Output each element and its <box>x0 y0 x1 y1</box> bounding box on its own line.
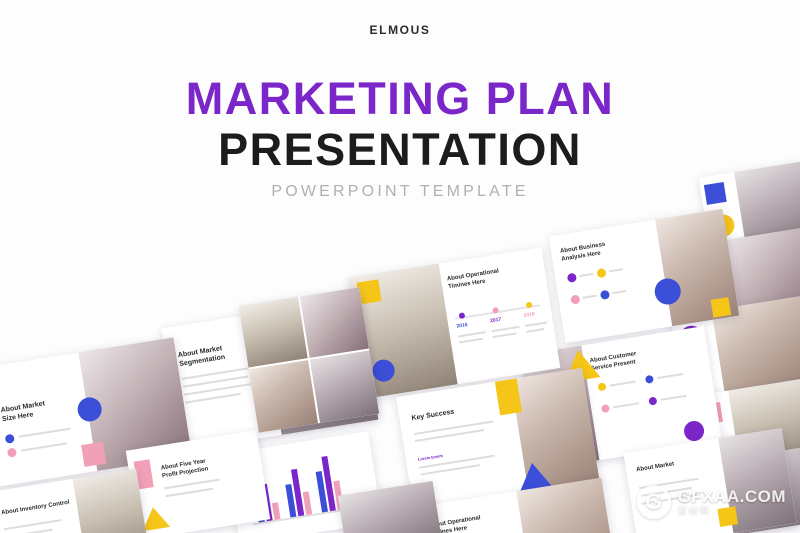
timeline-year-3: 2018 <box>523 311 535 319</box>
slide-mosaic: About Business Analysis Here About Custo… <box>0 0 800 533</box>
slide-title: About Operational Timines Here <box>447 268 501 291</box>
slide-title: Key Success <box>411 409 455 424</box>
key-success-subtitle: Lorem Ipsum <box>418 453 444 462</box>
watermark: G GFXAA.COM 素材网 <box>637 485 786 519</box>
slide-title: About Market <box>636 461 675 474</box>
watermark-tagline: 素材网 <box>678 506 786 515</box>
watermark-name: GFXAA.COM <box>678 488 786 506</box>
slide-title: About Business Analysis Here <box>560 242 607 264</box>
slide-title: About Market Segmentation <box>177 345 225 370</box>
timeline-year-2: 2017 <box>490 317 502 325</box>
timeline-year-1: 2016 <box>456 322 468 330</box>
slide-thumb-photo-cluster[interactable] <box>239 287 380 433</box>
slide-title: About Inventory Control <box>1 500 70 518</box>
watermark-logo-icon: G <box>637 485 671 519</box>
slide-title: About Five Year Profit Projection <box>161 458 209 480</box>
poster-canvas: ELMOUS MARKETING PLAN PRESENTATION POWER… <box>0 0 800 533</box>
slide-title: About Market Size Here <box>0 400 47 424</box>
